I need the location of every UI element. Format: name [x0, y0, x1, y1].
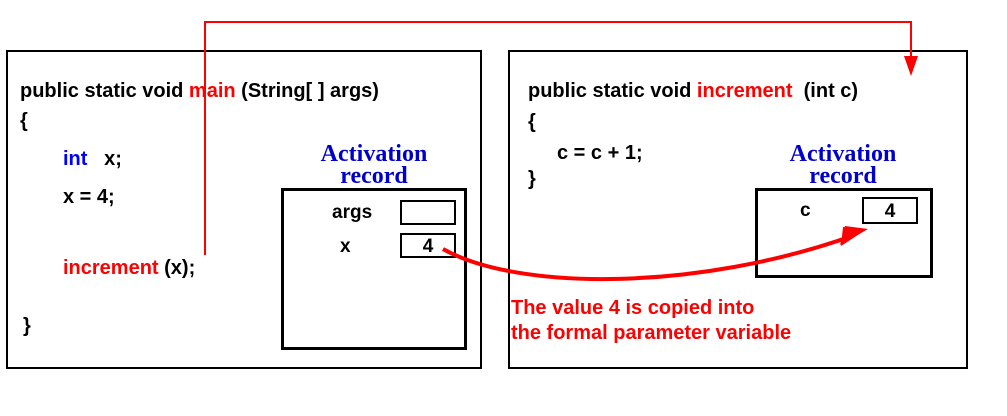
caller-close-brace: } — [23, 315, 31, 338]
caller-slot-value-x: 4 — [400, 233, 456, 258]
callee-signature-prefix: public static void — [528, 80, 697, 102]
caption-line-1: The value 4 is copied into — [511, 297, 754, 319]
callee-slot-label-c: c — [800, 200, 811, 222]
callee-signature-params: (int c) — [793, 80, 859, 102]
callee-slot-value-c: 4 — [862, 197, 918, 224]
caller-slot-label-x: x — [340, 236, 351, 258]
caller-activation-record-title: Activationrecord — [288, 143, 460, 187]
callee-body-line: c = c + 1; — [557, 142, 643, 165]
caller-call-line: increment (x); — [63, 257, 195, 280]
caption-line-2: the formal parameter variable — [511, 322, 791, 344]
caller-assignment-line: x = 4; — [63, 186, 115, 209]
parameter-passing-diagram: public static void main (String[ ] args)… — [0, 0, 1007, 416]
caller-ar-title-line2: record — [340, 163, 408, 189]
caller-declaration-variable: x; — [104, 148, 122, 170]
caller-declaration-type: int — [63, 148, 87, 170]
caller-open-brace: { — [20, 110, 28, 133]
caller-signature-prefix: public static void — [20, 80, 189, 102]
callee-ar-title-line2: record — [809, 163, 877, 189]
callee-close-brace: } — [528, 168, 536, 191]
callee-open-brace: { — [528, 111, 536, 134]
callee-signature-line: public static void increment (int c) — [528, 80, 858, 103]
caller-signature-params: (String[ ] args) — [236, 80, 379, 102]
caller-slot-value-args — [400, 200, 456, 225]
caller-declaration-line: int x; — [63, 148, 122, 171]
caller-method-name: main — [189, 80, 236, 102]
caller-call-name: increment — [63, 257, 159, 279]
caller-call-args: (x); — [159, 257, 196, 279]
callee-method-name: increment — [697, 80, 793, 102]
caller-signature-line: public static void main (String[ ] args) — [20, 80, 379, 103]
callee-activation-record-title: Activationrecord — [757, 143, 929, 187]
copy-explanation-caption: The value 4 is copied intothe formal par… — [511, 296, 791, 346]
caller-slot-label-args: args — [332, 202, 372, 224]
